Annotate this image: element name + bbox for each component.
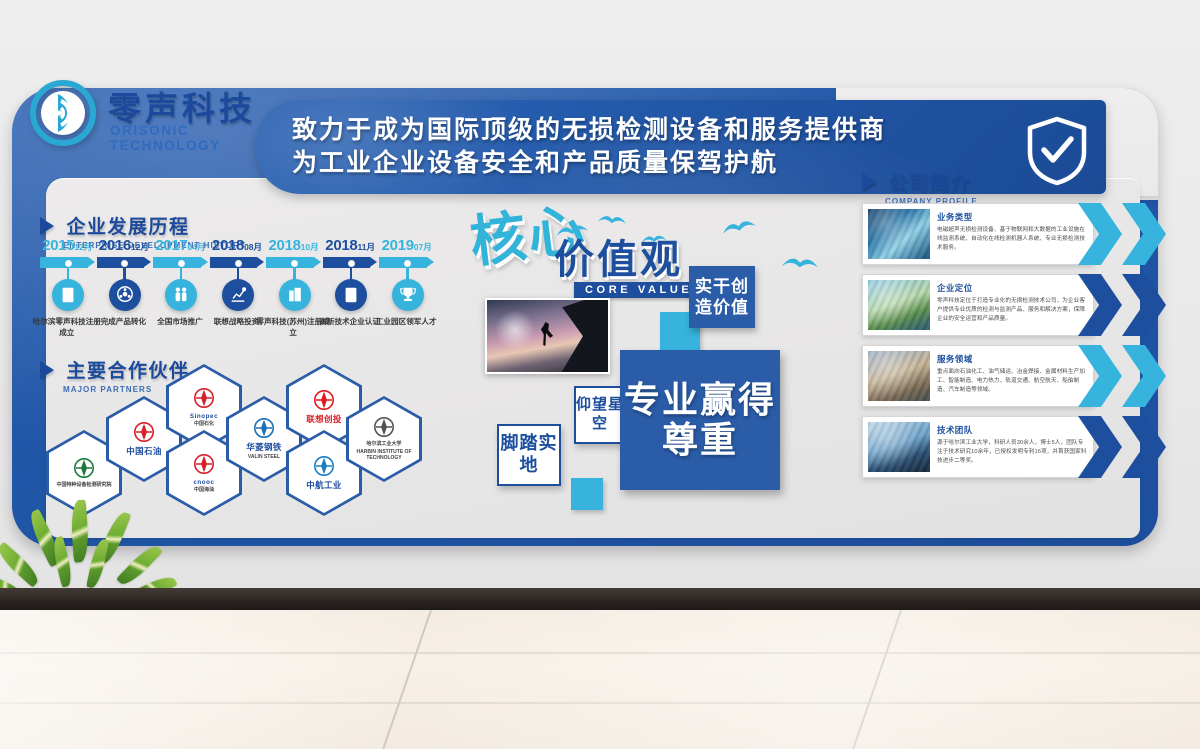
triangle-bullet-icon: [862, 173, 876, 191]
chevron-right-icon: [1078, 203, 1122, 265]
bird-icon: [641, 233, 668, 246]
refinery-plant-photo: [868, 351, 930, 401]
timeline-year-number: 2016: [99, 237, 131, 254]
office-wall-scene: 零声科技 ORISONIC TECHNOLOGY 致力于成为国际顶级的无损检测设…: [0, 0, 1200, 749]
chevron-right-icon: [1122, 203, 1166, 265]
cnooc-icon: [191, 453, 217, 477]
timeline-year-number: 2015: [42, 237, 74, 254]
profile-title-cn: 公司简介: [888, 168, 970, 195]
banner-line-2: 为工业企业设备安全和产品质量保驾护航: [292, 147, 886, 180]
timeline-year: 201612月: [96, 238, 153, 253]
profile-card-chevrons: [1078, 416, 1188, 478]
chevron-right-icon: [1078, 416, 1122, 478]
timeline-dot: [65, 260, 72, 267]
timeline-year: 201810月: [265, 238, 322, 253]
timeline-segment: [97, 257, 145, 268]
timeline-year: 201808月: [209, 238, 266, 253]
timeline-year-month: 07月: [414, 242, 432, 252]
timeline-segment: [40, 257, 88, 268]
value-tag-shigan-text: 实干创造价值: [689, 276, 755, 319]
profile-card-chevrons: [1078, 274, 1188, 336]
partner-name: cnooc: [193, 479, 214, 486]
bird-decorations: [545, 212, 825, 292]
city-skyline-photo: [868, 280, 930, 330]
timeline-year-number: 2019: [382, 237, 414, 254]
profile-card[interactable]: 业务类型电磁超声无损检测设备、基于物联网和大数据的工业设施在线监测系统、自动化在…: [862, 203, 1094, 265]
dark-baseboard: [0, 588, 1200, 610]
petrochina-sun-icon: [131, 421, 157, 445]
brand-name-en: ORISONIC TECHNOLOGY: [110, 123, 258, 153]
timeline-dot: [235, 260, 242, 267]
people-icon: [165, 279, 197, 311]
profile-card-chevrons: [1078, 203, 1188, 265]
profile-card-description: 重点面向石油化工、油气储运、冶金焊接、金属材料生产加工、智能制造、电力热力、轨道…: [937, 368, 1088, 395]
building-icon: [279, 279, 311, 311]
profile-card[interactable]: 服务领域重点面向石油化工、油气储运、冶金焊接、金属材料生产加工、智能制造、电力热…: [862, 345, 1094, 407]
chevron-right-icon: [1122, 274, 1166, 336]
header-banner: 致力于成为国际顶级的无损检测设备和服务提供商 为工业企业设备安全和产品质量保驾护…: [256, 100, 1106, 194]
trophy-icon: [392, 279, 424, 311]
triangle-bullet-icon: [40, 217, 54, 235]
value-tag-jiaota-text: 脚踏实地: [499, 433, 559, 477]
profile-card-description: 零声科技定位于打造专业化的无损检测技术公司，为企业客户提供专业优质的检测与监测产…: [937, 297, 1088, 324]
timeline-segment: [266, 257, 314, 268]
avic-icon: [311, 455, 337, 479]
partner-name: 中国特种设备检测研究院: [56, 483, 111, 489]
timeline-year-number: 2017: [155, 237, 187, 254]
profile-card-title: 服务领域: [937, 353, 1088, 365]
sinopec-icon: [191, 387, 217, 411]
timeline-label: 工业园区领军人才: [369, 316, 443, 327]
profile-card[interactable]: 技术团队源于哈尔滨工业大学，科研人员30余人，博士5人，团队专注于技术研究10余…: [862, 416, 1094, 478]
main-slogan-text: 专业赢得尊重: [620, 380, 780, 461]
timeline-year-month: 12月: [131, 242, 149, 252]
partner-subname: 中国石化: [194, 422, 214, 428]
bird-icon: [780, 255, 819, 274]
gear-cycle-icon: [109, 279, 141, 311]
profile-card-chevrons: [1078, 345, 1188, 407]
bird-icon: [554, 222, 590, 241]
timeline-segment: [323, 257, 371, 268]
timeline-year-number: 2018: [212, 237, 244, 254]
lenovo-capital-icon: [311, 389, 337, 413]
team-silhouette-photo: [868, 422, 930, 472]
timeline-year-number: 2018: [268, 237, 300, 254]
timeline-dot: [291, 260, 298, 267]
chevron-right-icon: [1122, 416, 1166, 478]
partner-name: 联想创投: [306, 415, 342, 425]
certificate-icon: [52, 279, 84, 311]
rock-climber-sunset-photo: [485, 298, 610, 374]
bird-icon: [596, 212, 627, 228]
profile-section-heading: 公司简介 COMPANY PROFILE: [862, 168, 978, 206]
value-tag-shigan: 实干创造价值: [689, 266, 755, 328]
timeline-year-number: 2018: [325, 237, 357, 254]
value-tag-yangwang-text: 仰望星空: [576, 396, 624, 434]
banner-text: 致力于成为国际顶级的无损检测设备和服务提供商 为工业企业设备安全和产品质量保驾护…: [292, 114, 886, 180]
accent-square-cyan: [571, 478, 603, 510]
chevron-right-icon: [1078, 274, 1122, 336]
sun-glow: [495, 310, 535, 350]
partner-name: 哈尔滨工业大学: [366, 442, 401, 448]
timeline-segment: [379, 257, 427, 268]
timeline-year-month: 12月: [74, 242, 92, 252]
hit-icon: [371, 416, 397, 440]
industrial-machinery-photo: [868, 209, 930, 259]
timeline-segment: [210, 257, 258, 268]
value-tag-yangwang: 仰望星空: [574, 386, 626, 444]
timeline-year: 201907月: [378, 238, 435, 253]
timeline-year-month: 11月: [357, 242, 375, 252]
growth-chart-icon: [222, 279, 254, 311]
timeline-dot: [348, 260, 355, 267]
profile-card[interactable]: 企业定位零声科技定位于打造专业化的无损检测技术公司，为企业客户提供专业优质的检测…: [862, 274, 1094, 336]
timeline-year: 201512月: [39, 238, 96, 253]
history-title-cn: 企业发展历程: [66, 212, 189, 239]
profile-card-description: 电磁超声无损检测设备、基于物联网和大数据的工业设施在线监测系统、自动化在线检测机…: [937, 226, 1088, 253]
partner-subname: HARBIN INSTITUTE OF TECHNOLOGY: [349, 450, 419, 462]
value-tag-jiaota: 脚踏实地: [497, 424, 561, 486]
brand-logo: 零声科技 ORISONIC TECHNOLOGY: [28, 78, 258, 154]
climber-silhouette: [539, 322, 555, 346]
partner-subname: 中国海油: [194, 488, 214, 494]
profile-card-title: 技术团队: [937, 424, 1088, 436]
timeline-year: 201704月: [152, 238, 209, 253]
profile-card-description: 源于哈尔滨工业大学，科研人员30余人，博士5人，团队专注于技术研究10余年，已授…: [937, 439, 1088, 466]
partner-subname: VALIN STEEL: [248, 455, 280, 461]
timeline-year: 201811月: [322, 238, 379, 253]
timeline-year-month: 10月: [301, 242, 319, 252]
timeline-segment: [153, 257, 201, 268]
tiled-floor: [0, 610, 1200, 749]
chevron-right-icon: [1078, 345, 1122, 407]
timeline-dot: [178, 260, 185, 267]
chevron-right-icon: [1122, 345, 1166, 407]
bird-icon: [720, 216, 758, 238]
profile-card-title: 企业定位: [937, 282, 1088, 294]
main-slogan-panel: 专业赢得尊重: [620, 350, 780, 490]
certificate-icon: [335, 279, 367, 311]
shield-check-icon: [1026, 116, 1088, 186]
partner-name: Sinopec: [190, 413, 218, 420]
profile-card-title: 业务类型: [937, 211, 1088, 223]
sound-wave-logo-icon: [28, 78, 98, 148]
timeline-year-month: 08月: [244, 242, 262, 252]
valin-icon: [251, 417, 277, 441]
partner-name: 中航工业: [306, 481, 342, 491]
banner-line-1: 致力于成为国际顶级的无损检测设备和服务提供商: [292, 114, 886, 147]
partner-name: 中国石油: [126, 447, 162, 457]
partner-mark-icon: [71, 457, 97, 481]
timeline-year-month: 04月: [188, 242, 206, 252]
history-timeline: 201512月哈尔滨零声科技注册成立201612月完成产品转化201704月全国…: [40, 238, 436, 338]
partner-name: 华菱钢铁: [246, 443, 282, 453]
